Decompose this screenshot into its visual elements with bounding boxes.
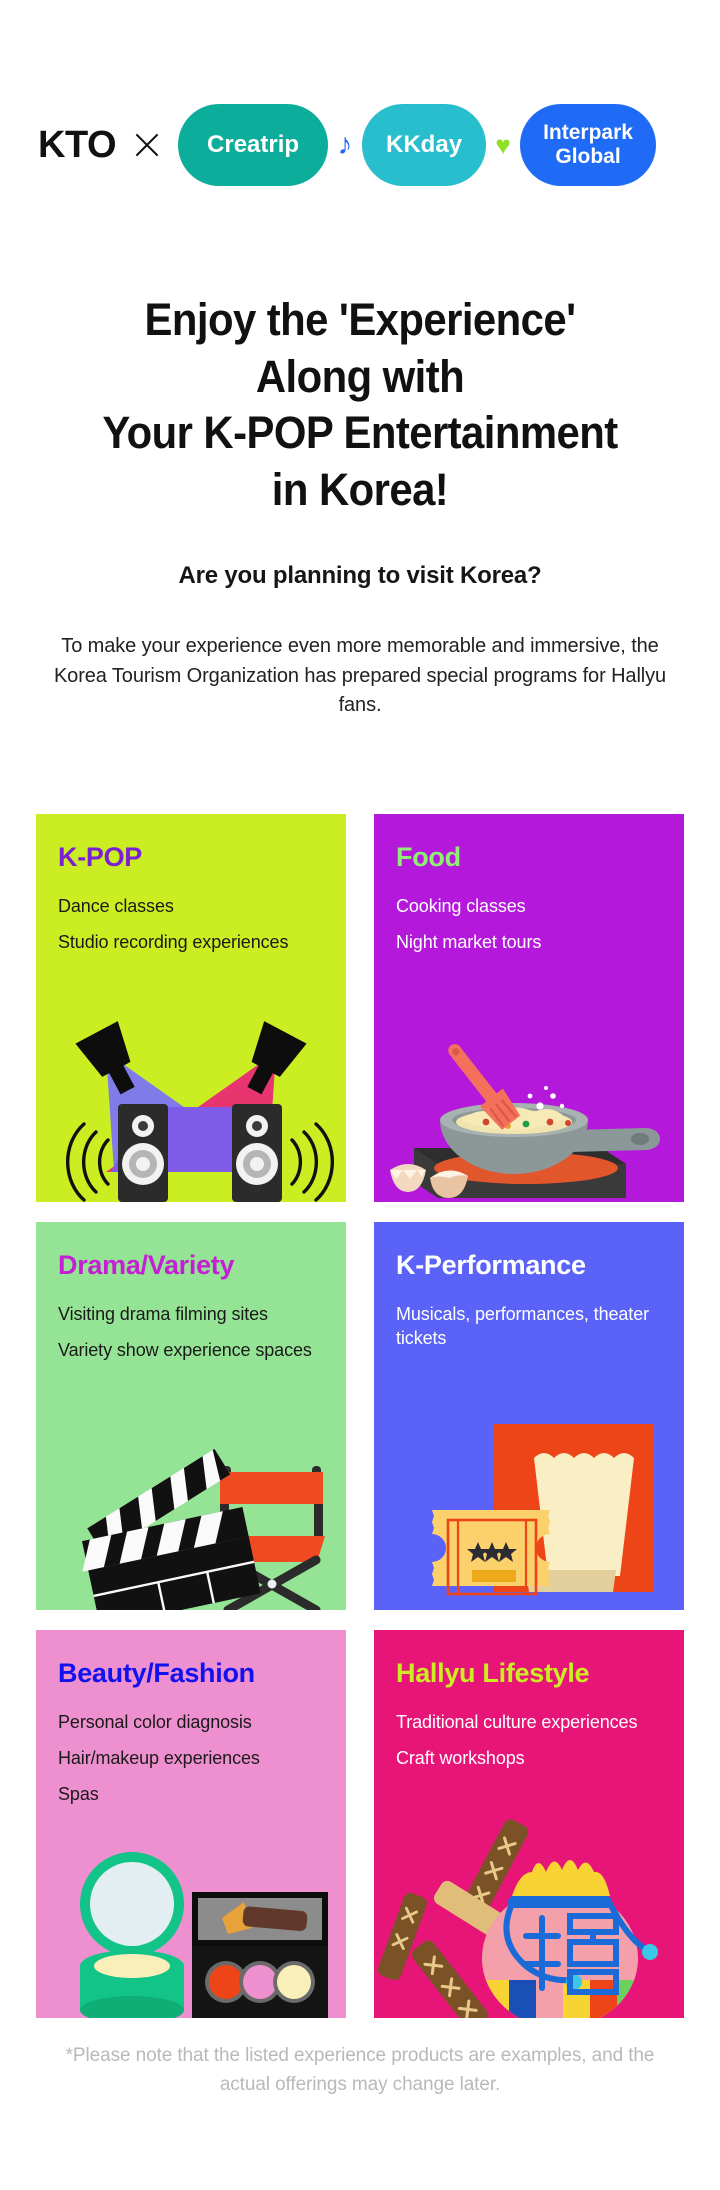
list-item: Variety show experience spaces xyxy=(58,1339,324,1363)
list-item: Spas xyxy=(58,1783,324,1807)
subheading: Are you planning to visit Korea? xyxy=(0,562,720,590)
card-list-food: Cooking classes Night market tours xyxy=(396,895,662,955)
x-cross-icon xyxy=(132,130,162,160)
headline-line-3: Your K-POP Entertainment xyxy=(102,407,617,458)
card-title-beauty-fashion: Beauty/Fashion xyxy=(58,1658,324,1689)
heart-icon: ♥ xyxy=(495,132,510,158)
partner-label-kkday: KKday xyxy=(386,131,462,159)
card-list-hallyu-lifestyle: Traditional culture experiences Craft wo… xyxy=(396,1711,662,1771)
list-item: Cooking classes xyxy=(396,895,662,919)
connector-music-note: ♪ xyxy=(328,130,362,160)
list-item: Musicals, performances, theater tickets xyxy=(396,1303,662,1351)
ticket-popcorn-icon xyxy=(374,1410,684,1610)
headline-line-4: in Korea! xyxy=(272,464,448,515)
list-item: Traditional culture experiences xyxy=(396,1711,662,1735)
stage-lights-speakers-icon xyxy=(36,1002,346,1202)
partner-pill-creatrip[interactable]: Creatrip xyxy=(178,104,328,186)
card-title-hallyu-lifestyle: Hallyu Lifestyle xyxy=(396,1658,662,1689)
headline-line-2: Along with xyxy=(256,351,464,402)
list-item: Night market tours xyxy=(396,931,662,955)
page-title: Enjoy the 'Experience' Along with Your K… xyxy=(25,292,695,519)
lucky-pouch-yut-sticks-icon xyxy=(374,1818,684,2018)
partner-logo-bar: KTO Creatrip ♪ KKday ♥ Interpark Global xyxy=(0,0,720,290)
partner-label-interpark-line1: Interpark xyxy=(543,121,633,144)
compact-mirror-makeup-palette-icon xyxy=(36,1818,346,2018)
experience-card-grid: K-POP Dance classes Studio recording exp… xyxy=(36,814,684,2018)
card-title-food: Food xyxy=(396,842,662,873)
partner-label-interpark-line2: Global xyxy=(555,145,620,168)
partner-pill-kkday[interactable]: KKday xyxy=(362,104,486,186)
card-food[interactable]: Food Cooking classes Night market tours xyxy=(374,814,684,1202)
card-title-k-performance: K-Performance xyxy=(396,1250,662,1281)
kto-logo: KTO xyxy=(38,124,116,167)
list-item: Personal color diagnosis xyxy=(58,1711,324,1735)
headline-line-1: Enjoy the 'Experience' xyxy=(145,294,576,345)
list-item: Craft workshops xyxy=(396,1747,662,1771)
list-item: Hair/makeup experiences xyxy=(58,1747,324,1771)
card-list-drama-variety: Visiting drama filming sites Variety sho… xyxy=(58,1303,324,1363)
list-item: Visiting drama filming sites xyxy=(58,1303,324,1327)
disclaimer-note: *Please note that the listed experience … xyxy=(50,2042,670,2099)
intro-paragraph: To make your experience even more memora… xyxy=(50,632,670,721)
music-note-icon: ♪ xyxy=(338,130,353,160)
card-list-k-pop: Dance classes Studio recording experienc… xyxy=(58,895,324,955)
card-list-k-performance: Musicals, performances, theater tickets xyxy=(396,1303,662,1351)
card-k-pop[interactable]: K-POP Dance classes Studio recording exp… xyxy=(36,814,346,1202)
frying-pan-stove-icon xyxy=(374,1002,684,1202)
card-list-beauty-fashion: Personal color diagnosis Hair/makeup exp… xyxy=(58,1711,324,1807)
card-k-performance[interactable]: K-Performance Musicals, performances, th… xyxy=(374,1222,684,1610)
clapperboard-director-chair-icon xyxy=(36,1410,346,1610)
card-drama-variety[interactable]: Drama/Variety Visiting drama filming sit… xyxy=(36,1222,346,1610)
card-beauty-fashion[interactable]: Beauty/Fashion Personal color diagnosis … xyxy=(36,1630,346,2018)
card-hallyu-lifestyle[interactable]: Hallyu Lifestyle Traditional culture exp… xyxy=(374,1630,684,2018)
card-title-drama-variety: Drama/Variety xyxy=(58,1250,324,1281)
card-title-k-pop: K-POP xyxy=(58,842,324,873)
partner-pill-interpark-global[interactable]: Interpark Global xyxy=(520,104,656,186)
list-item: Studio recording experiences xyxy=(58,931,324,955)
connector-heart: ♥ xyxy=(486,132,520,158)
partner-label-creatrip: Creatrip xyxy=(207,131,299,159)
list-item: Dance classes xyxy=(58,895,324,919)
